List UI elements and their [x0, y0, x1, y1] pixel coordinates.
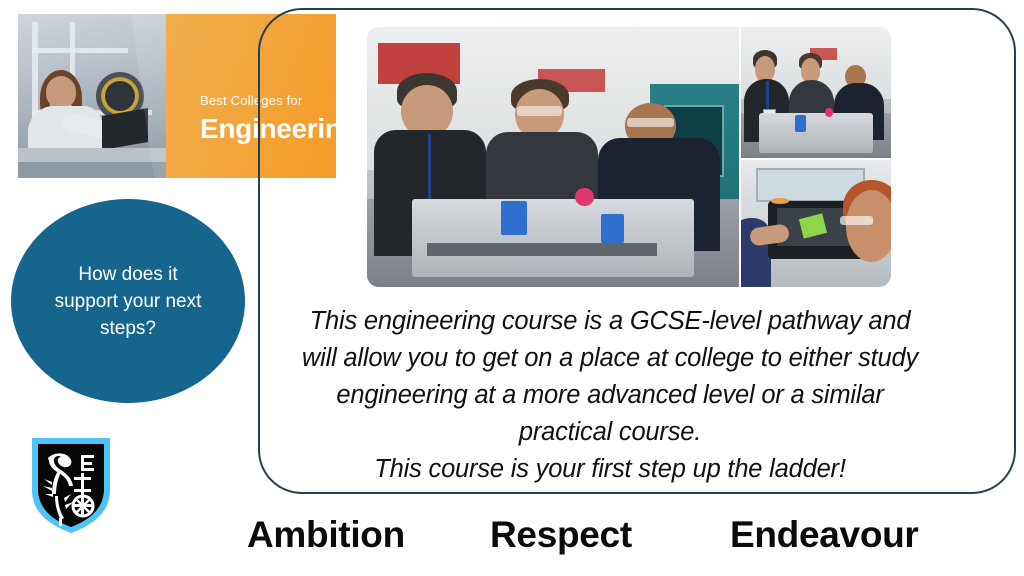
- value-word-respect: Respect: [490, 513, 632, 557]
- banner-photo-student-at-laptop: [18, 14, 166, 178]
- engineering-photo-collage: [367, 27, 891, 287]
- question-circle-text: How does it support your next steps?: [48, 261, 208, 342]
- question-circle: How does it support your next steps?: [11, 199, 245, 403]
- school-shield-crest: [28, 432, 114, 536]
- collage-image-main: [367, 27, 739, 287]
- course-description-paragraph: This engineering course is a GCSE-level …: [300, 303, 920, 488]
- value-word-endeavour: Endeavour: [730, 513, 919, 557]
- collage-right-column: [741, 27, 891, 287]
- collage-image-top-right: [741, 27, 891, 158]
- value-word-ambition: Ambition: [247, 513, 405, 557]
- school-values-row: Ambition Respect Endeavour: [240, 513, 920, 563]
- collage-image-bottom-right: [741, 160, 891, 287]
